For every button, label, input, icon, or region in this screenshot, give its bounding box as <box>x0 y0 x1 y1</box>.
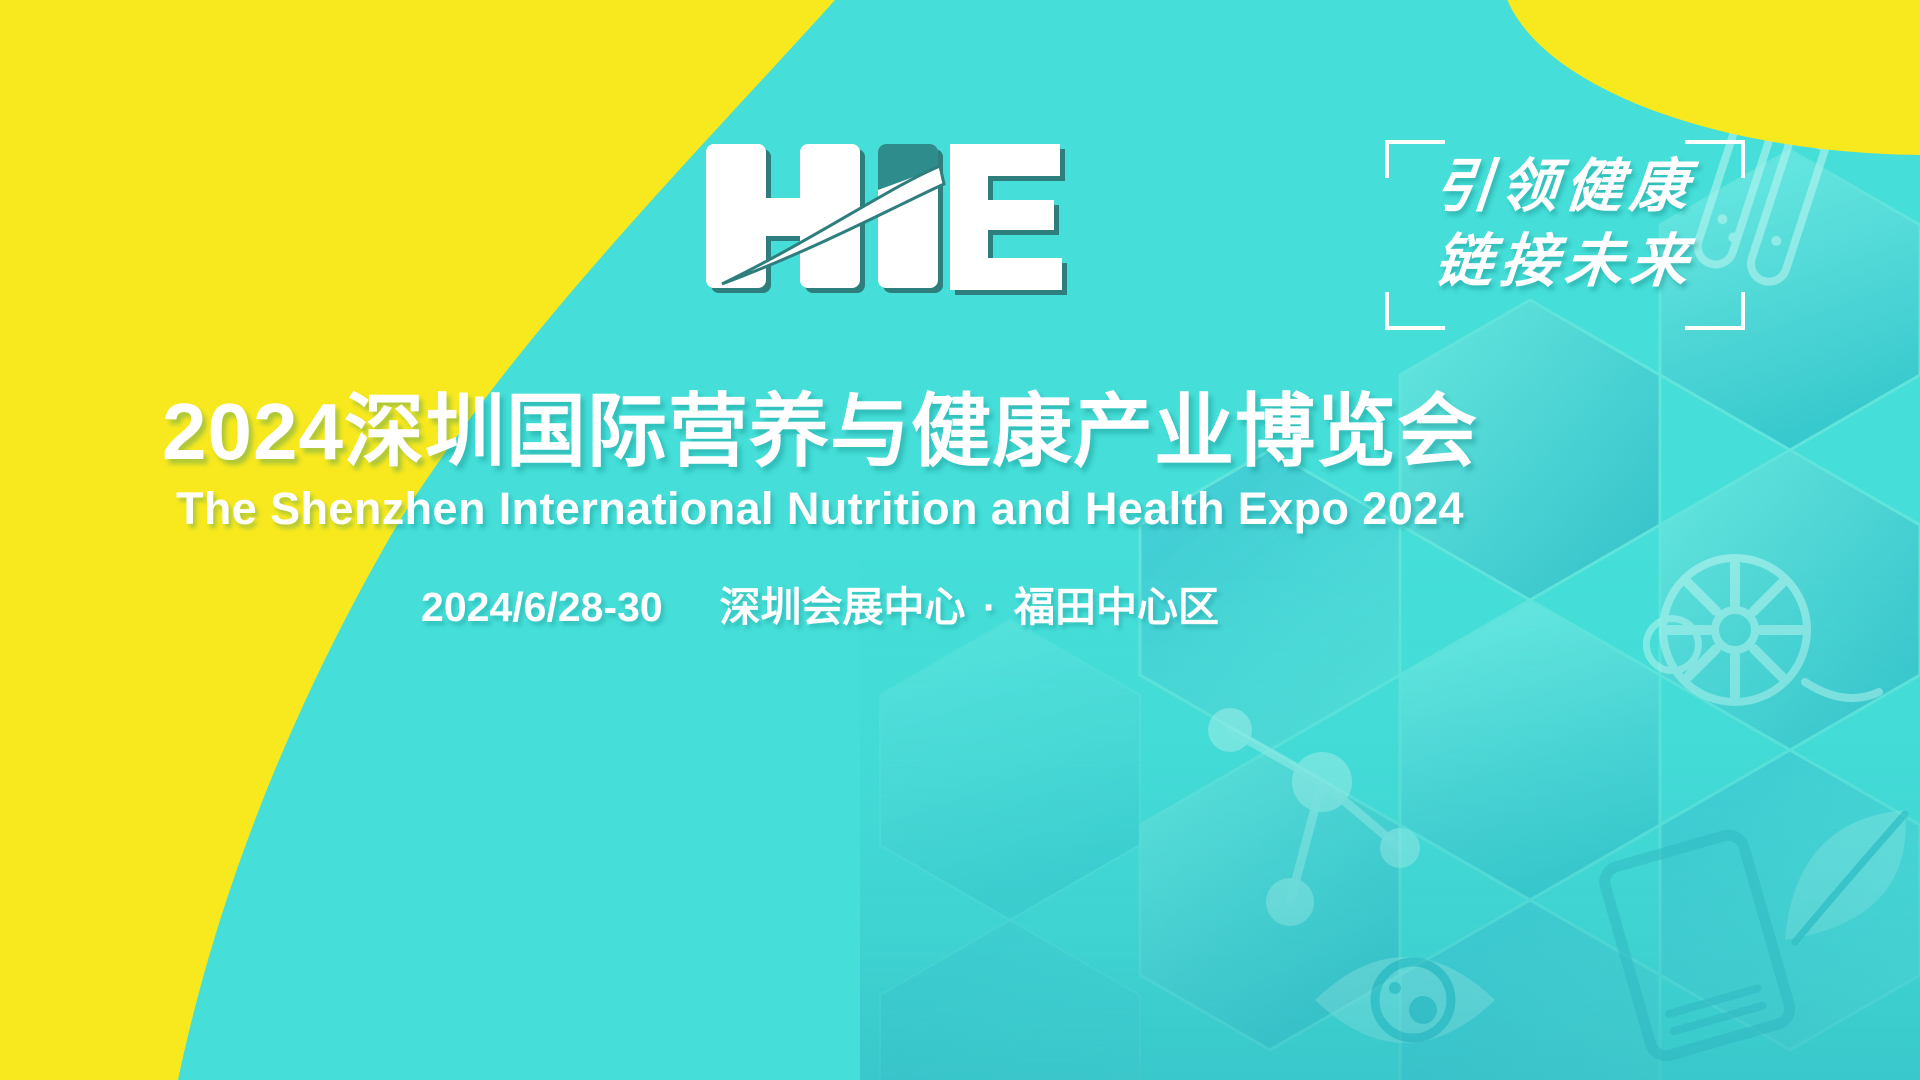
hie-logo <box>700 132 1070 302</box>
meta-separator: · <box>977 584 1003 630</box>
bracket-bottom-left <box>1385 292 1445 330</box>
title-chinese: 2024深圳国际营养与健康产业博览会 <box>0 390 1640 475</box>
slogan-line-2: 链接未来 <box>1432 225 1698 298</box>
event-venue: 深圳会展中心 <box>720 584 966 630</box>
headline-block: 2024深圳国际营养与健康产业博览会 The Shenzhen Internat… <box>0 390 1640 633</box>
event-district: 福田中心区 <box>1014 584 1219 630</box>
hie-logo-svg <box>700 132 1070 302</box>
expo-banner: 引领健康 链接未来 2024深圳国际营养与健康产业博览会 The Shenzhe… <box>0 0 1920 1080</box>
title-english: The Shenzhen International Nutrition and… <box>0 483 1640 535</box>
event-meta: 2024/6/28-30 深圳会展中心 · 福田中心区 <box>0 573 1640 633</box>
bottom-glow <box>860 560 1920 1080</box>
event-date: 2024/6/28-30 <box>421 584 663 630</box>
slogan-frame: 引领健康 链接未来 <box>1385 140 1745 330</box>
bracket-bottom-right <box>1685 292 1745 330</box>
slogan-line-1: 引领健康 <box>1432 150 1698 223</box>
